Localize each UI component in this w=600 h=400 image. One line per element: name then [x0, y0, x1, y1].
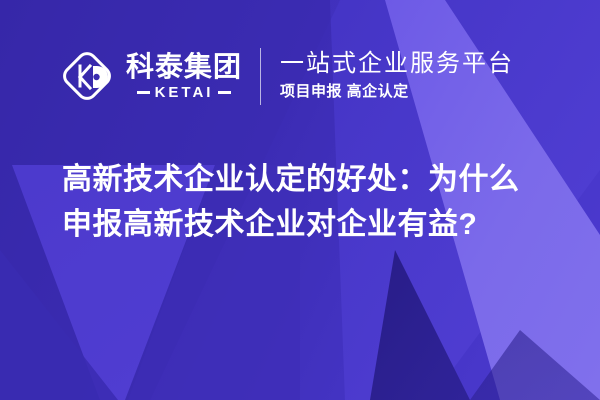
logo-company-name-en: KETAI [155, 85, 214, 100]
headline-line-2: 申报高新技术企业对企业有益? [62, 202, 562, 247]
banner-header: 科泰集团 KETAI 一站式企业服务平台 项目申报 高企认定 [60, 42, 514, 110]
header-divider [260, 48, 261, 105]
tagline-main: 一站式企业服务平台 [280, 49, 514, 79]
logo-wordmark: 科泰集团 KETAI [126, 49, 242, 103]
ketai-kd-monogram-icon [60, 49, 114, 103]
tagline-sub: 项目申报 高企认定 [280, 81, 514, 103]
headline: 高新技术企业认定的好处：为什么 申报高新技术企业对企业有益? [62, 157, 562, 247]
brand-logo[interactable]: 科泰集团 KETAI [60, 42, 242, 110]
logo-dash-left-icon [137, 91, 150, 94]
logo-company-name-cn: 科泰集团 [126, 52, 242, 82]
logo-company-name-en-row: KETAI [126, 85, 242, 100]
promo-banner: 科泰集团 KETAI 一站式企业服务平台 项目申报 高企认定 高新技术企业认定的… [0, 0, 600, 400]
tagline-block: 一站式企业服务平台 项目申报 高企认定 [280, 46, 514, 106]
headline-line-1: 高新技术企业认定的好处：为什么 [62, 157, 562, 202]
logo-dash-right-icon [218, 91, 231, 94]
